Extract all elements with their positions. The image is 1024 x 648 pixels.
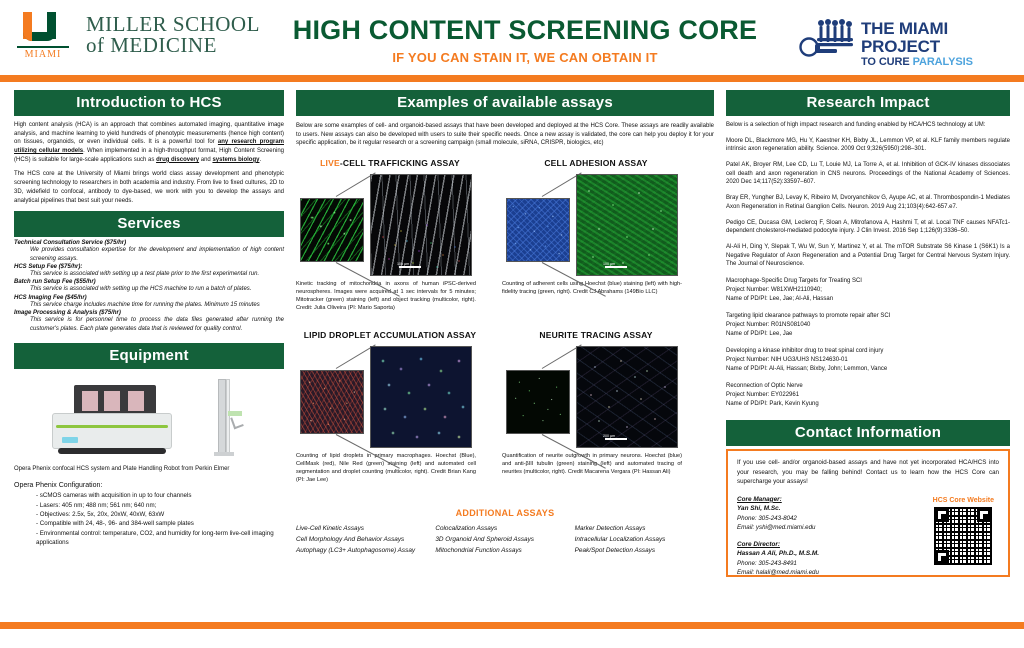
plate-handling-robot-image — [210, 379, 246, 459]
grant-pi: Name of PD/PI: Lee, Jae; Al-Ali, Hassan — [726, 295, 1010, 304]
core-director-email[interactable]: Email: halali@med.miami.edu — [737, 568, 887, 577]
hoechst-blue-nuclei-image — [506, 198, 570, 262]
automated-segmentation-multicolor-image — [370, 346, 472, 448]
research-impact-heading: Research Impact — [726, 90, 1010, 116]
service-description: This service charge includes machine tim… — [30, 301, 284, 309]
qr-code-block[interactable]: HCS Core Website — [933, 497, 994, 565]
hcs-core-website-qr-code[interactable] — [934, 507, 992, 565]
top-orange-rule — [0, 75, 1024, 82]
grant-item: Developing a kinase inhibitor drug to tr… — [726, 347, 1010, 374]
introduction-heading: Introduction to HCS — [14, 90, 284, 116]
core-manager-phone[interactable]: Phone: 305-243-8042 — [737, 514, 887, 523]
scale-bar-label: 200 µm — [603, 434, 615, 438]
assay-row-2: LIPID DROPLET ACCUMULATION ASSAY Countin… — [296, 330, 714, 498]
grant-project-number: Project Number: R01NS081040 — [726, 321, 1010, 330]
bill-tubulin-green-neurons-image — [506, 370, 570, 434]
assay-title: NEURITE TRACING ASSAY — [502, 330, 690, 340]
grant-item: Targeting lipid clearance pathways to pr… — [726, 312, 1010, 339]
contact-intro: If you use cell- and/or organoid-based a… — [737, 458, 999, 487]
grant-pi: Name of PD/PI: Lee, Jae — [726, 330, 1010, 339]
partner-line-1: THE MIAMI PROJECT — [861, 20, 1010, 56]
grant-pi: Name of PD/PI: Al-Ali, Hassan; Bixby, Jo… — [726, 365, 1010, 374]
title-block: HIGH CONTENT SCREENING CORE IF YOU CAN S… — [265, 16, 785, 65]
assay-title-rest: CELL ADHESION ASSAY — [544, 158, 647, 168]
additional-assays-heading: ADDITIONAL ASSAYS — [296, 508, 714, 518]
assay-title-rest: LIPID DROPLET ACCUMULATION ASSAY — [304, 330, 476, 340]
scale-bar-label: 100 µm — [603, 262, 615, 266]
partner-line-2-light: PARALYSIS — [913, 56, 973, 68]
list-item: Cell Morphology And Behavior Assays — [296, 535, 435, 546]
opera-phenix-image — [52, 385, 172, 457]
contact-information-heading: Contact Information — [726, 420, 1010, 446]
core-manager-email[interactable]: Email: yshi@med.miami.edu — [737, 523, 887, 532]
list-item: Intracellular Localization Assays — [575, 535, 714, 546]
intro-link-systems-biology: systems biology — [212, 157, 259, 163]
list-item: Live-Cell Kinetic Assays — [296, 524, 435, 535]
assay-title-rest: -CELL TRAFFICKING ASSAY — [340, 158, 460, 168]
reference-item: Patel AK, Broyer RM, Lee CD, Lu T, Louie… — [726, 161, 1010, 187]
intro-link-drug-discovery: drug discovery — [156, 157, 199, 163]
scale-bar — [605, 438, 627, 440]
service-description: This service is for personnel time to pr… — [30, 316, 284, 333]
school-line-1: MILLER SCHOOL — [86, 14, 260, 35]
equipment-images — [14, 375, 284, 463]
configuration-item: - Environmental control: temperature, CO… — [36, 529, 284, 548]
grant-item: Reconnection of Optic Nerve Project Numb… — [726, 382, 1010, 409]
assay-caption: Counting of lipid droplets in primary ma… — [296, 452, 476, 484]
page-title: HIGH CONTENT SCREENING CORE — [265, 16, 785, 46]
core-director-phone[interactable]: Phone: 305-243-8491 — [737, 559, 887, 568]
u-mark-icon — [17, 12, 69, 44]
assays-heading: Examples of available assays — [296, 90, 714, 116]
services-list: Technical Consultation Service ($75/hr) … — [14, 240, 284, 333]
core-director-name: Hassan A Ali, Ph.D., M.S.M. — [737, 549, 887, 559]
configuration-item: - sCMOS cameras with acquisition in up t… — [36, 491, 284, 500]
bottom-orange-rule — [0, 622, 1024, 629]
service-item: HCS Imaging Fee ($45/hr) This service ch… — [14, 295, 284, 309]
assay-caption: Kinetic tracking of mitochondria in axon… — [296, 280, 476, 312]
service-description: This service is associated with setting … — [30, 285, 284, 293]
grant-title: Targeting lipid clearance pathways to pr… — [726, 312, 1010, 321]
miami-project-wordmark: THE MIAMI PROJECT TO CURE PARALYSIS — [861, 20, 1010, 68]
equipment-caption: Opera Phenix confocal HCS system and Pla… — [14, 465, 284, 473]
contact-people: Core Manager: Yan Shi, M.Sc. Phone: 305-… — [737, 495, 887, 578]
scale-bar-label: 100 µm — [397, 262, 409, 266]
reference-item: Bray ER, Yungher BJ, Levay K, Ribeiro M,… — [726, 194, 1010, 211]
middle-column: Examples of available assays Below are s… — [296, 90, 714, 557]
university-wordmark: MIAMI — [14, 49, 72, 60]
configuration-item: - Compatible with 24, 48-, 96- and 384-w… — [36, 519, 284, 528]
additional-assays-column-3: Marker Detection Assays Intracellular Lo… — [575, 524, 714, 557]
introduction-paragraph-2: The HCS core at the University of Miami … — [14, 170, 284, 205]
wheelchair-people-icon — [795, 18, 857, 58]
list-item: Marker Detection Assays — [575, 524, 714, 535]
assay-title: LIVE-CELL TRAFFICKING ASSAY — [296, 158, 484, 168]
service-item: Batch run Setup Fee ($55/hr) This servic… — [14, 279, 284, 293]
equipment-heading: Equipment — [14, 343, 284, 369]
assay-card-cell-adhesion: CELL ADHESION ASSAY 100 µm Counting of a… — [502, 158, 690, 296]
list-item: Colocalization Assays — [435, 524, 574, 535]
core-director-role: Core Director: — [737, 540, 887, 550]
object-tracking-multicolor-image: 100 µm — [370, 174, 472, 276]
assay-title: CELL ADHESION ASSAY — [502, 158, 690, 168]
list-item: Mitochondrial Function Assays — [435, 546, 574, 557]
reference-item: Moore DL, Blackmore MG, Hu Y, Kaestner K… — [726, 137, 1010, 154]
scale-bar — [399, 266, 421, 268]
assay-row-1: LIVE-CELL TRAFFICKING ASSAY 100 µm Kinet… — [296, 158, 714, 326]
assay-title: LIPID DROPLET ACCUMULATION ASSAY — [296, 330, 484, 340]
service-item: Image Processing & Analysis ($75/hr) Thi… — [14, 310, 284, 333]
configuration-item: - Objectives: 2.5x, 5x, 20x, 20xW, 40xW,… — [36, 510, 284, 519]
grant-project-number: Project Number: NIH UG3/UH3 NS124630-01 — [726, 356, 1010, 365]
assay-title-highlight: LIVE — [320, 158, 340, 168]
service-description: We provides consultation expertise for t… — [30, 246, 284, 263]
left-column: Introduction to HCS High content analysi… — [14, 90, 284, 547]
additional-assays-column-1: Live-Cell Kinetic Assays Cell Morphology… — [296, 524, 435, 557]
school-line-2: of MEDICINE — [86, 35, 260, 56]
grant-pi: Name of PD/PI: Park, Kevin Kyung — [726, 400, 1010, 409]
logo-divider — [17, 46, 69, 48]
grant-item: Macrophage-Specific Drug Targets for Tre… — [726, 277, 1010, 304]
research-impact-intro: Below is a selection of high impact rese… — [726, 121, 1010, 130]
assay-card-lipid-droplet: LIPID DROPLET ACCUMULATION ASSAY Countin… — [296, 330, 484, 484]
grant-project-number: Project Number: W81XWH2110940; — [726, 286, 1010, 295]
scale-bar — [605, 266, 627, 268]
high-fidelity-green-tracing-image: 100 µm — [576, 174, 678, 276]
configuration-item: - Lasers: 405 nm; 488 nm; 561 nm; 640 nm… — [36, 501, 284, 510]
university-of-miami-logo: MIAMI — [14, 12, 72, 62]
grant-project-number: Project Number: EY022961 — [726, 391, 1010, 400]
configuration-title: Opera Phenix Configuration: — [14, 482, 284, 489]
additional-assays-columns: Live-Cell Kinetic Assays Cell Morphology… — [296, 524, 714, 557]
service-item: Technical Consultation Service ($75/hr) … — [14, 240, 284, 263]
core-director-block: Core Director: Hassan A Ali, Ph.D., M.S.… — [737, 540, 887, 578]
grant-title: Developing a kinase inhibitor drug to tr… — [726, 347, 1010, 356]
introduction-body: High content analysis (HCA) is an approa… — [14, 121, 284, 205]
list-item: Autophagy (LC3+ Autophagosome) Assay — [296, 546, 435, 557]
automated-neurite-tracing-multicolor-image: 200 µm — [576, 346, 678, 448]
reference-item: Al-Ali H, Ding Y, Slepak T, Wu W, Sun Y,… — [726, 243, 1010, 269]
poster-canvas: MIAMI MILLER SCHOOL of MEDICINE HIGH CON… — [0, 0, 1024, 648]
service-item: HCS Setup Fee ($75/hr): This service is … — [14, 264, 284, 278]
qr-code-label: HCS Core Website — [933, 497, 994, 504]
assay-title-rest: NEURITE TRACING ASSAY — [539, 330, 652, 340]
assay-card-live-cell-trafficking: LIVE-CELL TRAFFICKING ASSAY 100 µm Kinet… — [296, 158, 484, 312]
services-heading: Services — [14, 211, 284, 237]
partner-line-2-dark: TO CURE — [861, 56, 910, 68]
introduction-paragraph-1: High content analysis (HCA) is an approa… — [14, 121, 284, 164]
service-description: This service is associated with setting … — [30, 270, 284, 278]
miller-school-wordmark: MILLER SCHOOL of MEDICINE — [86, 14, 260, 56]
poster-header: MIAMI MILLER SCHOOL of MEDICINE HIGH CON… — [0, 0, 1024, 74]
intro-p1-part-d: . — [259, 157, 261, 163]
core-manager-block: Core Manager: Yan Shi, M.Sc. Phone: 305-… — [737, 495, 887, 533]
contact-box: If you use cell- and/or organoid-based a… — [726, 449, 1010, 577]
intro-p1-part-c: and — [199, 157, 212, 163]
core-manager-role: Core Manager: — [737, 495, 887, 505]
configuration-list: - sCMOS cameras with acquisition in up t… — [36, 491, 284, 547]
grant-title: Reconnection of Optic Nerve — [726, 382, 1010, 391]
page-subtitle: IF YOU CAN STAIN IT, WE CAN OBTAIN IT — [265, 50, 785, 65]
assay-card-neurite-tracing: NEURITE TRACING ASSAY 200 µm Quantificat… — [502, 330, 690, 476]
list-item: Peak/Spot Detection Assays — [575, 546, 714, 557]
core-manager-name: Yan Shi, M.Sc. — [737, 504, 887, 514]
nile-red-macrophages-image — [300, 370, 364, 434]
grant-title: Macrophage-Specific Drug Targets for Tre… — [726, 277, 1010, 286]
mitotracker-green-axons-image — [300, 198, 364, 262]
right-column: Research Impact Below is a selection of … — [726, 90, 1010, 577]
assay-caption: Quantification of neurite outgrowth in p… — [502, 452, 682, 476]
assays-intro: Below are some examples of cell- and org… — [296, 122, 714, 148]
miami-project-logo: THE MIAMI PROJECT TO CURE PARALYSIS — [795, 16, 1010, 60]
list-item: 3D Organoid And Spheroid Assays — [435, 535, 574, 546]
reference-item: Pedigo CE, Ducasa GM, Leclercq F, Sloan … — [726, 219, 1010, 236]
additional-assays-column-2: Colocalization Assays 3D Organoid And Sp… — [435, 524, 574, 557]
